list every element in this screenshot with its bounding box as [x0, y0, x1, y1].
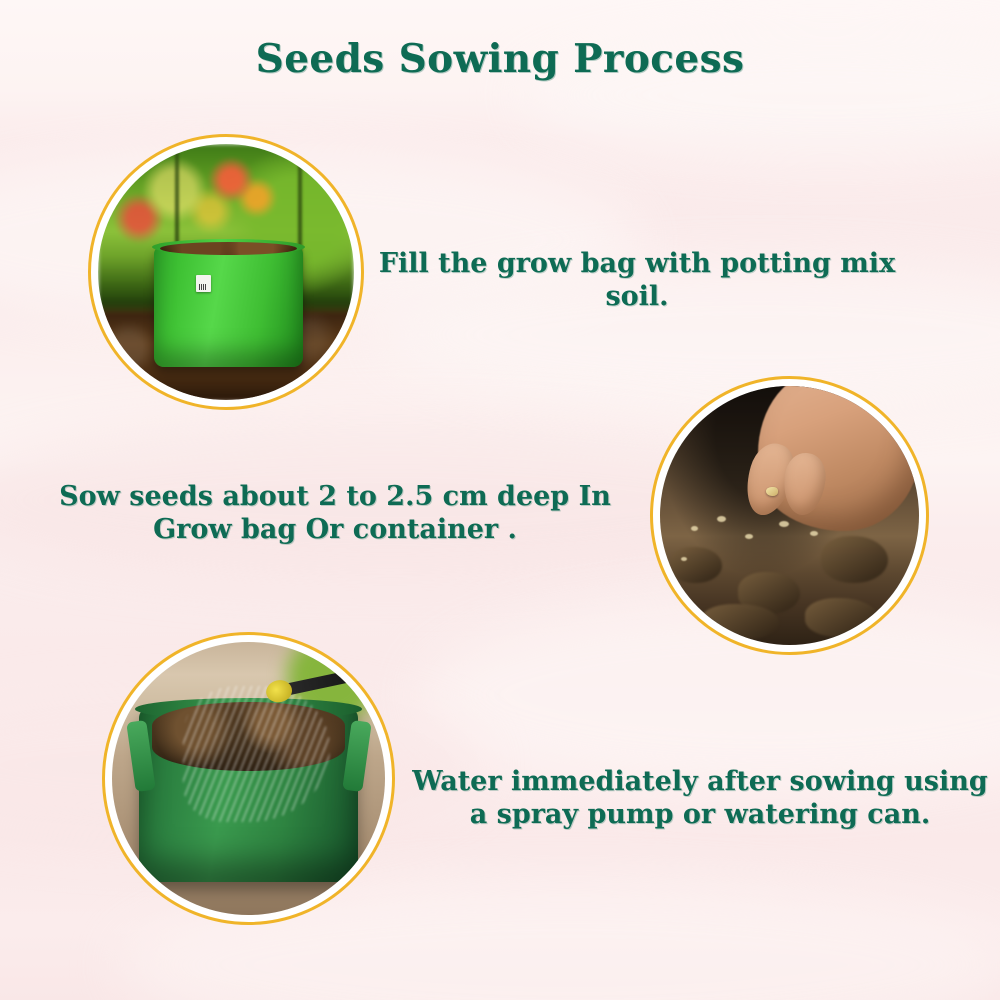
seed-being-dropped	[766, 487, 778, 496]
soil-clod-3	[821, 536, 888, 583]
grow-bag-soil-surface	[160, 242, 297, 255]
step-2-image-hand-sowing	[650, 376, 929, 655]
green-grow-bag	[154, 246, 302, 366]
watering-photo-inner	[112, 642, 385, 915]
step-1-image-grow-bag	[88, 134, 364, 410]
seed-speck-4	[779, 521, 789, 527]
hand-sowing-photo-inner	[660, 386, 919, 645]
seed-speck-1	[691, 526, 698, 531]
soil-clod-5	[805, 598, 878, 637]
seed-speck-7	[681, 557, 687, 561]
step-1-caption: Fill the grow bag with potting mix soil.	[352, 248, 922, 314]
grow-bag-label-tag	[196, 275, 211, 292]
page-title: Seeds Sowing Process	[0, 36, 1000, 82]
grow-bag-photo-inner	[98, 144, 354, 400]
infographic-poster: Seeds Sowing Process Fill the grow bag w…	[0, 0, 1000, 1000]
step-2-caption: Sow seeds about 2 to 2.5 cm deep In Grow…	[50, 481, 620, 547]
step-3-image-watering	[102, 632, 395, 925]
soil-clod-4	[701, 604, 779, 640]
seed-speck-2	[717, 516, 726, 522]
soil-clod-1	[670, 547, 722, 583]
step-3-caption: Water immediately after sowing using a s…	[400, 766, 1000, 832]
seed-speck-3	[745, 534, 753, 539]
